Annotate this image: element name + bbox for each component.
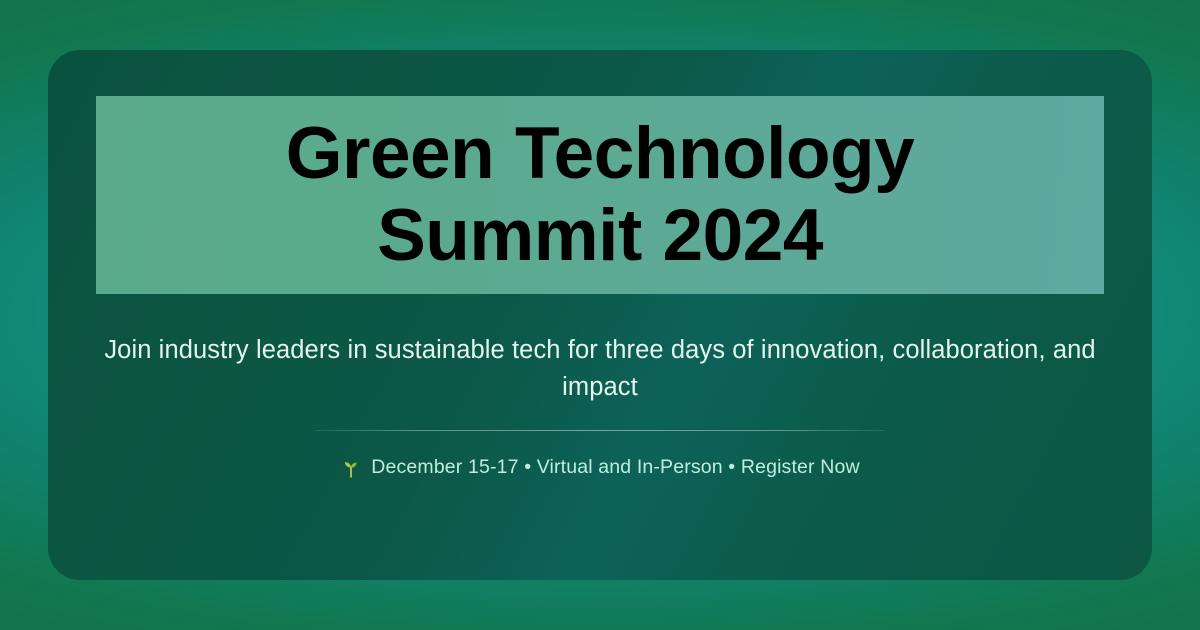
subtitle-text: Join industry leaders in sustainable tec… bbox=[95, 332, 1105, 406]
sprout-icon bbox=[340, 457, 362, 479]
divider bbox=[315, 430, 885, 431]
event-details-text: December 15-17 • Virtual and In-Person •… bbox=[371, 456, 859, 479]
poster-canvas: Green Technology Summit 2024 Join indust… bbox=[0, 0, 1200, 630]
page-title-line-1: Green Technology bbox=[286, 113, 914, 194]
event-details-line: December 15-17 • Virtual and In-Person •… bbox=[340, 456, 859, 479]
promo-card: Green Technology Summit 2024 Join indust… bbox=[48, 50, 1152, 580]
card-body: Join industry leaders in sustainable tec… bbox=[48, 294, 1152, 580]
page-title-line-2: Summit 2024 bbox=[377, 195, 823, 276]
page-title: Green Technology Summit 2024 bbox=[250, 113, 950, 277]
title-band: Green Technology Summit 2024 bbox=[96, 96, 1104, 294]
